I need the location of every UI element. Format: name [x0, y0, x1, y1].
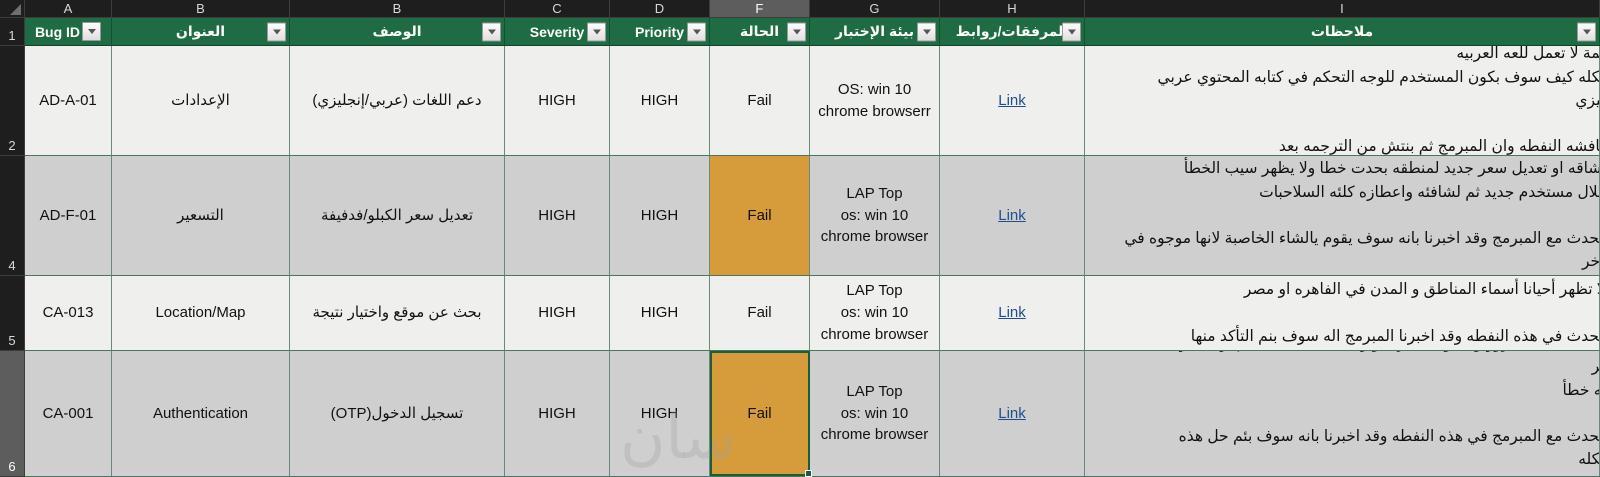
- header-attachments[interactable]: المرفقات/روابط: [940, 18, 1085, 46]
- attachment-link[interactable]: Link: [998, 302, 1026, 324]
- header-severity-label: Severity: [530, 24, 584, 40]
- attachment-link[interactable]: Link: [998, 403, 1026, 425]
- filter-dropdown-icon[interactable]: [687, 22, 706, 41]
- column-header-A[interactable]: A: [25, 0, 112, 18]
- header-bug-id-label: Bug ID: [35, 24, 80, 40]
- cell-priority[interactable]: HIGH: [610, 156, 710, 276]
- filter-dropdown-icon[interactable]: [917, 22, 936, 41]
- row-header-4[interactable]: 4: [0, 156, 25, 276]
- header-notes[interactable]: ملاحظات: [1085, 18, 1600, 46]
- cell-description[interactable]: تسجيل الدخول(OTP): [290, 351, 505, 477]
- cell-test-environment[interactable]: LAP Top os: win 10 chrome browser: [810, 276, 940, 351]
- filter-dropdown-icon[interactable]: [1577, 22, 1596, 41]
- header-test-environment[interactable]: بيئة الإختبار: [810, 18, 940, 46]
- cell-bug-id[interactable]: CA-013: [25, 276, 112, 351]
- cell-description[interactable]: تعديل سعر الكبلو/فدفيفة: [290, 156, 505, 276]
- cell-notes-text: عند لا تظهر أحيانا أسماء المناطق و المدن…: [1124, 278, 1600, 348]
- row-header-5[interactable]: 5: [0, 276, 25, 351]
- column-header-G[interactable]: G: [810, 0, 940, 18]
- cell-test-environment[interactable]: LAP Top os: win 10 chrome browser: [810, 156, 940, 276]
- cell-status[interactable]: Fail: [710, 156, 810, 276]
- cell-bug-id[interactable]: CA-001: [25, 351, 112, 477]
- row-header-1[interactable]: 1: [0, 18, 25, 46]
- attachment-link[interactable]: Link: [998, 90, 1026, 112]
- header-status-label: الحالة: [740, 23, 779, 40]
- column-header-H[interactable]: H: [940, 0, 1085, 18]
- column-header-B-description[interactable]: B: [290, 0, 505, 18]
- cell-attachment[interactable]: Link: [940, 46, 1085, 156]
- cell-attachment[interactable]: Link: [940, 351, 1085, 477]
- row-header-2[interactable]: 2: [0, 46, 25, 156]
- cell-test-environment[interactable]: LAP Top os: win 10 chrome browser: [810, 351, 940, 477]
- cell-title[interactable]: التسعير: [112, 156, 290, 276]
- header-priority-label: Priority: [635, 24, 684, 40]
- column-header-C[interactable]: C: [505, 0, 610, 18]
- cell-title[interactable]: Location/Map: [112, 276, 290, 351]
- cell-notes[interactable]: الترجمة لا تعمل للعه العربيه المشكله كيف…: [1085, 46, 1600, 156]
- spreadsheet-grid[interactable]: A B B C D F G H I 1 Bug ID العنوان الوصف…: [0, 0, 1600, 477]
- cell-title[interactable]: الإعدادات: [112, 46, 290, 156]
- column-header-D[interactable]: D: [610, 0, 710, 18]
- column-header-I[interactable]: I: [1085, 0, 1600, 18]
- cell-title[interactable]: Authentication: [112, 351, 290, 477]
- cell-notes-text: الترجمة لا تعمل للعه العربيه المشكله كيف…: [1124, 46, 1600, 156]
- fill-handle[interactable]: [805, 470, 812, 477]
- filter-dropdown-icon[interactable]: [587, 22, 606, 41]
- filter-dropdown-icon[interactable]: [1062, 22, 1081, 41]
- header-test-environment-label: بيئة الإختبار: [835, 23, 914, 40]
- cell-severity[interactable]: HIGH: [505, 156, 610, 276]
- column-header-F[interactable]: F: [710, 0, 810, 18]
- column-header-B-title[interactable]: B: [112, 0, 290, 18]
- cell-notes[interactable]: عند نسيان كلمه المرور ومحاولة تغييرها وا…: [1085, 351, 1600, 477]
- cell-description[interactable]: بحث عن موقع واختيار نتيجة: [290, 276, 505, 351]
- header-notes-label: ملاحظات: [1311, 23, 1373, 40]
- cell-notes-text: عند نسيان كلمه المرور ومحاولة تغييرها وا…: [1124, 351, 1600, 477]
- header-bug-id[interactable]: Bug ID: [25, 18, 112, 46]
- cell-severity[interactable]: HIGH: [505, 351, 610, 477]
- header-description[interactable]: الوصف: [290, 18, 505, 46]
- cell-priority[interactable]: HIGH: [610, 351, 710, 477]
- cell-test-environment[interactable]: OS: win 10 chrome browserr: [810, 46, 940, 156]
- cell-priority[interactable]: HIGH: [610, 46, 710, 156]
- header-attachments-label: المرفقات/روابط: [956, 23, 1068, 40]
- filter-dropdown-icon[interactable]: [482, 22, 501, 41]
- attachment-link[interactable]: Link: [998, 205, 1026, 227]
- cell-severity[interactable]: HIGH: [505, 276, 610, 351]
- header-severity[interactable]: Severity: [505, 18, 610, 46]
- cell-notes[interactable]: عند لا تظهر أحيانا أسماء المناطق و المدن…: [1085, 276, 1600, 351]
- cell-description[interactable]: دعم اللغات (عربي/إنجليزي): [290, 46, 505, 156]
- filter-dropdown-icon[interactable]: [82, 22, 101, 41]
- cell-bug-id[interactable]: AD-A-01: [25, 46, 112, 156]
- cell-priority[interactable]: HIGH: [610, 276, 710, 351]
- cell-notes[interactable]: عند إشاقه او تعديل سعر جديد لمنطقه بحدت …: [1085, 156, 1600, 276]
- cell-status[interactable]: Fail: [710, 276, 810, 351]
- cell-notes-text: عند إشاقه او تعديل سعر جديد لمنطقه بحدت …: [1124, 157, 1600, 273]
- cell-status[interactable]: Fail: [710, 46, 810, 156]
- cell-status-selected[interactable]: Fail: [710, 351, 810, 477]
- cell-severity[interactable]: HIGH: [505, 46, 610, 156]
- cell-attachment[interactable]: Link: [940, 276, 1085, 351]
- header-title-label: العنوان: [176, 23, 225, 40]
- header-priority[interactable]: Priority: [610, 18, 710, 46]
- select-all-corner[interactable]: [0, 0, 25, 18]
- header-description-label: الوصف: [372, 23, 421, 40]
- filter-dropdown-icon[interactable]: [267, 22, 286, 41]
- cell-bug-id[interactable]: AD-F-01: [25, 156, 112, 276]
- row-header-6[interactable]: 6: [0, 351, 25, 477]
- header-title[interactable]: العنوان: [112, 18, 290, 46]
- cell-attachment[interactable]: Link: [940, 156, 1085, 276]
- header-status[interactable]: الحالة: [710, 18, 810, 46]
- filter-dropdown-icon[interactable]: [787, 22, 806, 41]
